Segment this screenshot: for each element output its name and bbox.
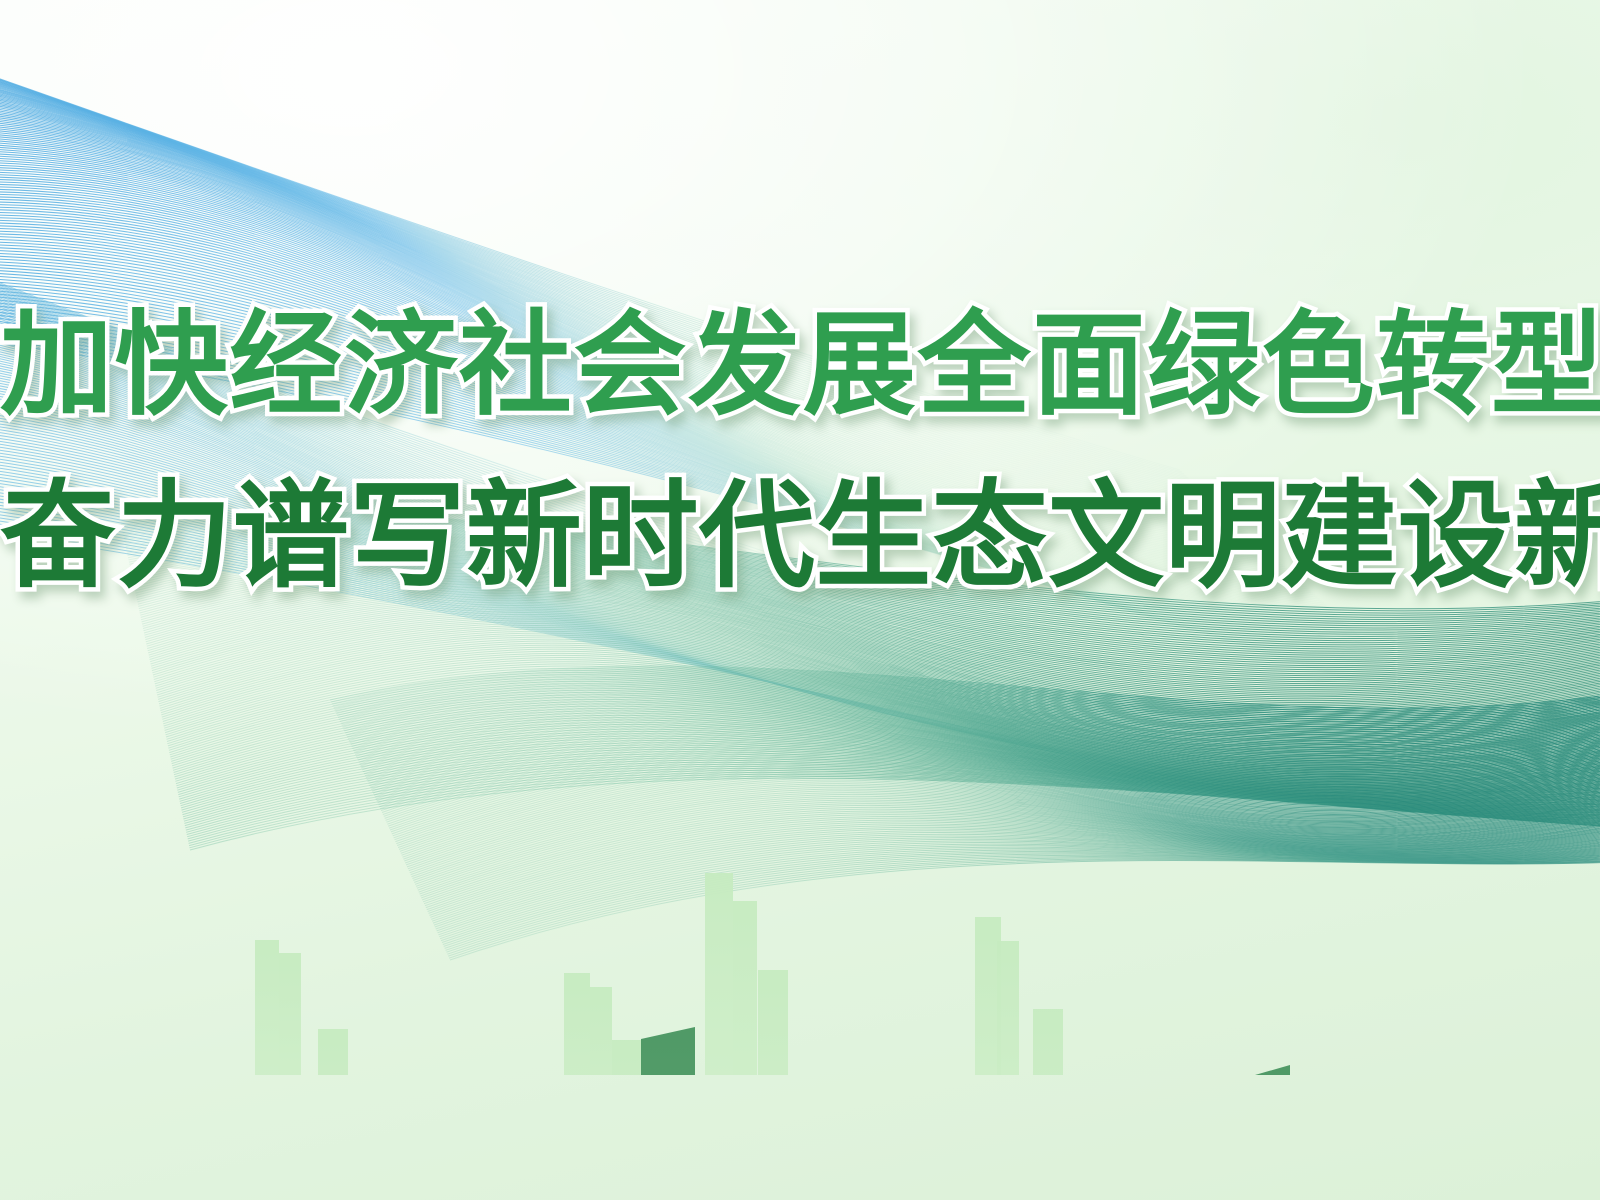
headline-line-1: 加快经济社会发展全面绿色转型 [0, 306, 1600, 424]
headline-line-2: 奋力谱写新时代生态文明建设新篇章 [0, 476, 1600, 596]
green-transition-banner: 加快经济社会发展全面绿色转型 奋力谱写新时代生态文明建设新篇章 [0, 0, 1600, 1200]
headline-block: 加快经济社会发展全面绿色转型 奋力谱写新时代生态文明建设新篇章 [0, 0, 1600, 1200]
